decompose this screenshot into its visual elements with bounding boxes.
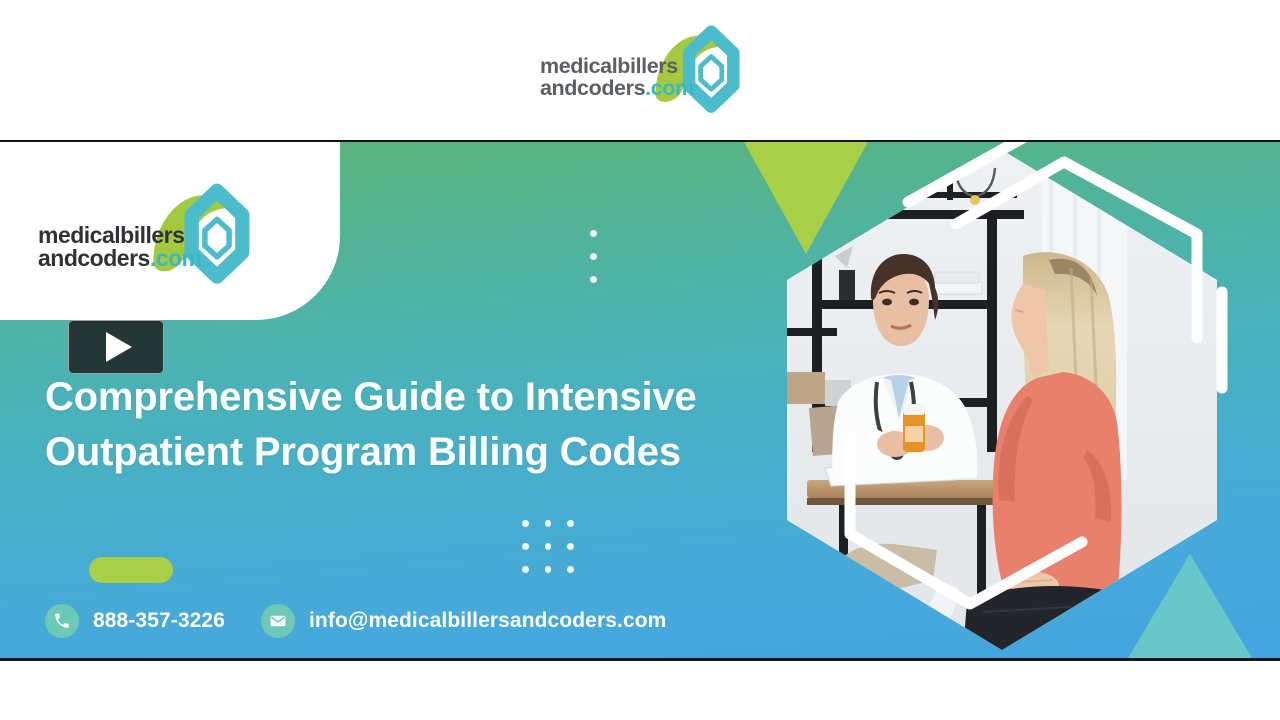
dots-row xyxy=(522,520,574,527)
contact-phone[interactable]: 888-357-3226 xyxy=(45,604,225,638)
dots-grid-decoration xyxy=(522,520,574,589)
dot xyxy=(522,543,529,550)
banner-logo-line-2: andcoders xyxy=(38,245,150,271)
dot xyxy=(590,276,597,283)
dot xyxy=(567,520,574,527)
dot xyxy=(567,566,574,573)
dot xyxy=(590,230,597,237)
dot xyxy=(522,520,529,527)
dot xyxy=(567,543,574,550)
phone-number: 888-357-3226 xyxy=(93,609,225,633)
header-logo-line-1: medicalbillers xyxy=(540,56,694,78)
header-logo-line-2: andcoders xyxy=(540,76,645,100)
email-address: info@medicalbillersandcoders.com xyxy=(309,609,666,633)
contact-strip: 888-357-3226 info@medicalbillersandcoder… xyxy=(45,604,666,638)
header-logo-wordmark: medicalbillers andcoders.com xyxy=(540,56,694,100)
dots-column-decoration xyxy=(590,230,597,299)
phone-icon xyxy=(45,604,79,638)
banner-logo-line-1: medicalbillers xyxy=(38,224,202,247)
dots-row xyxy=(522,543,574,550)
hero-banner: medicalbillers andcoders.com Comprehensi… xyxy=(0,142,1280,661)
dot xyxy=(522,566,529,573)
dot xyxy=(590,253,597,260)
site-header: medicalbillers andcoders.com xyxy=(0,0,1280,142)
envelope-icon xyxy=(261,604,295,638)
banner-logo[interactable]: medicalbillers andcoders.com xyxy=(38,182,250,292)
video-thumbnail-logo-panel: medicalbillers andcoders.com xyxy=(0,142,340,320)
banner-logo-wordmark: medicalbillers andcoders.com xyxy=(38,224,202,271)
play-button[interactable] xyxy=(68,320,164,374)
dot xyxy=(545,566,552,573)
hero-photo-group xyxy=(742,142,1280,661)
banner-logo-tld: .com xyxy=(150,245,202,271)
contact-email[interactable]: info@medicalbillersandcoders.com xyxy=(261,604,666,638)
header-logo-tld: .com xyxy=(645,76,694,100)
dot xyxy=(545,543,552,550)
play-icon xyxy=(106,332,132,362)
header-logo[interactable]: medicalbillers andcoders.com xyxy=(540,22,740,118)
hexagon-frame-outline xyxy=(742,142,1280,661)
banner-headline: Comprehensive Guide to Intensive Outpati… xyxy=(45,370,765,480)
accent-bar-decoration xyxy=(89,557,173,583)
dots-row xyxy=(522,566,574,573)
dot xyxy=(545,520,552,527)
page-root: medicalbillers andcoders.com xyxy=(0,0,1280,720)
